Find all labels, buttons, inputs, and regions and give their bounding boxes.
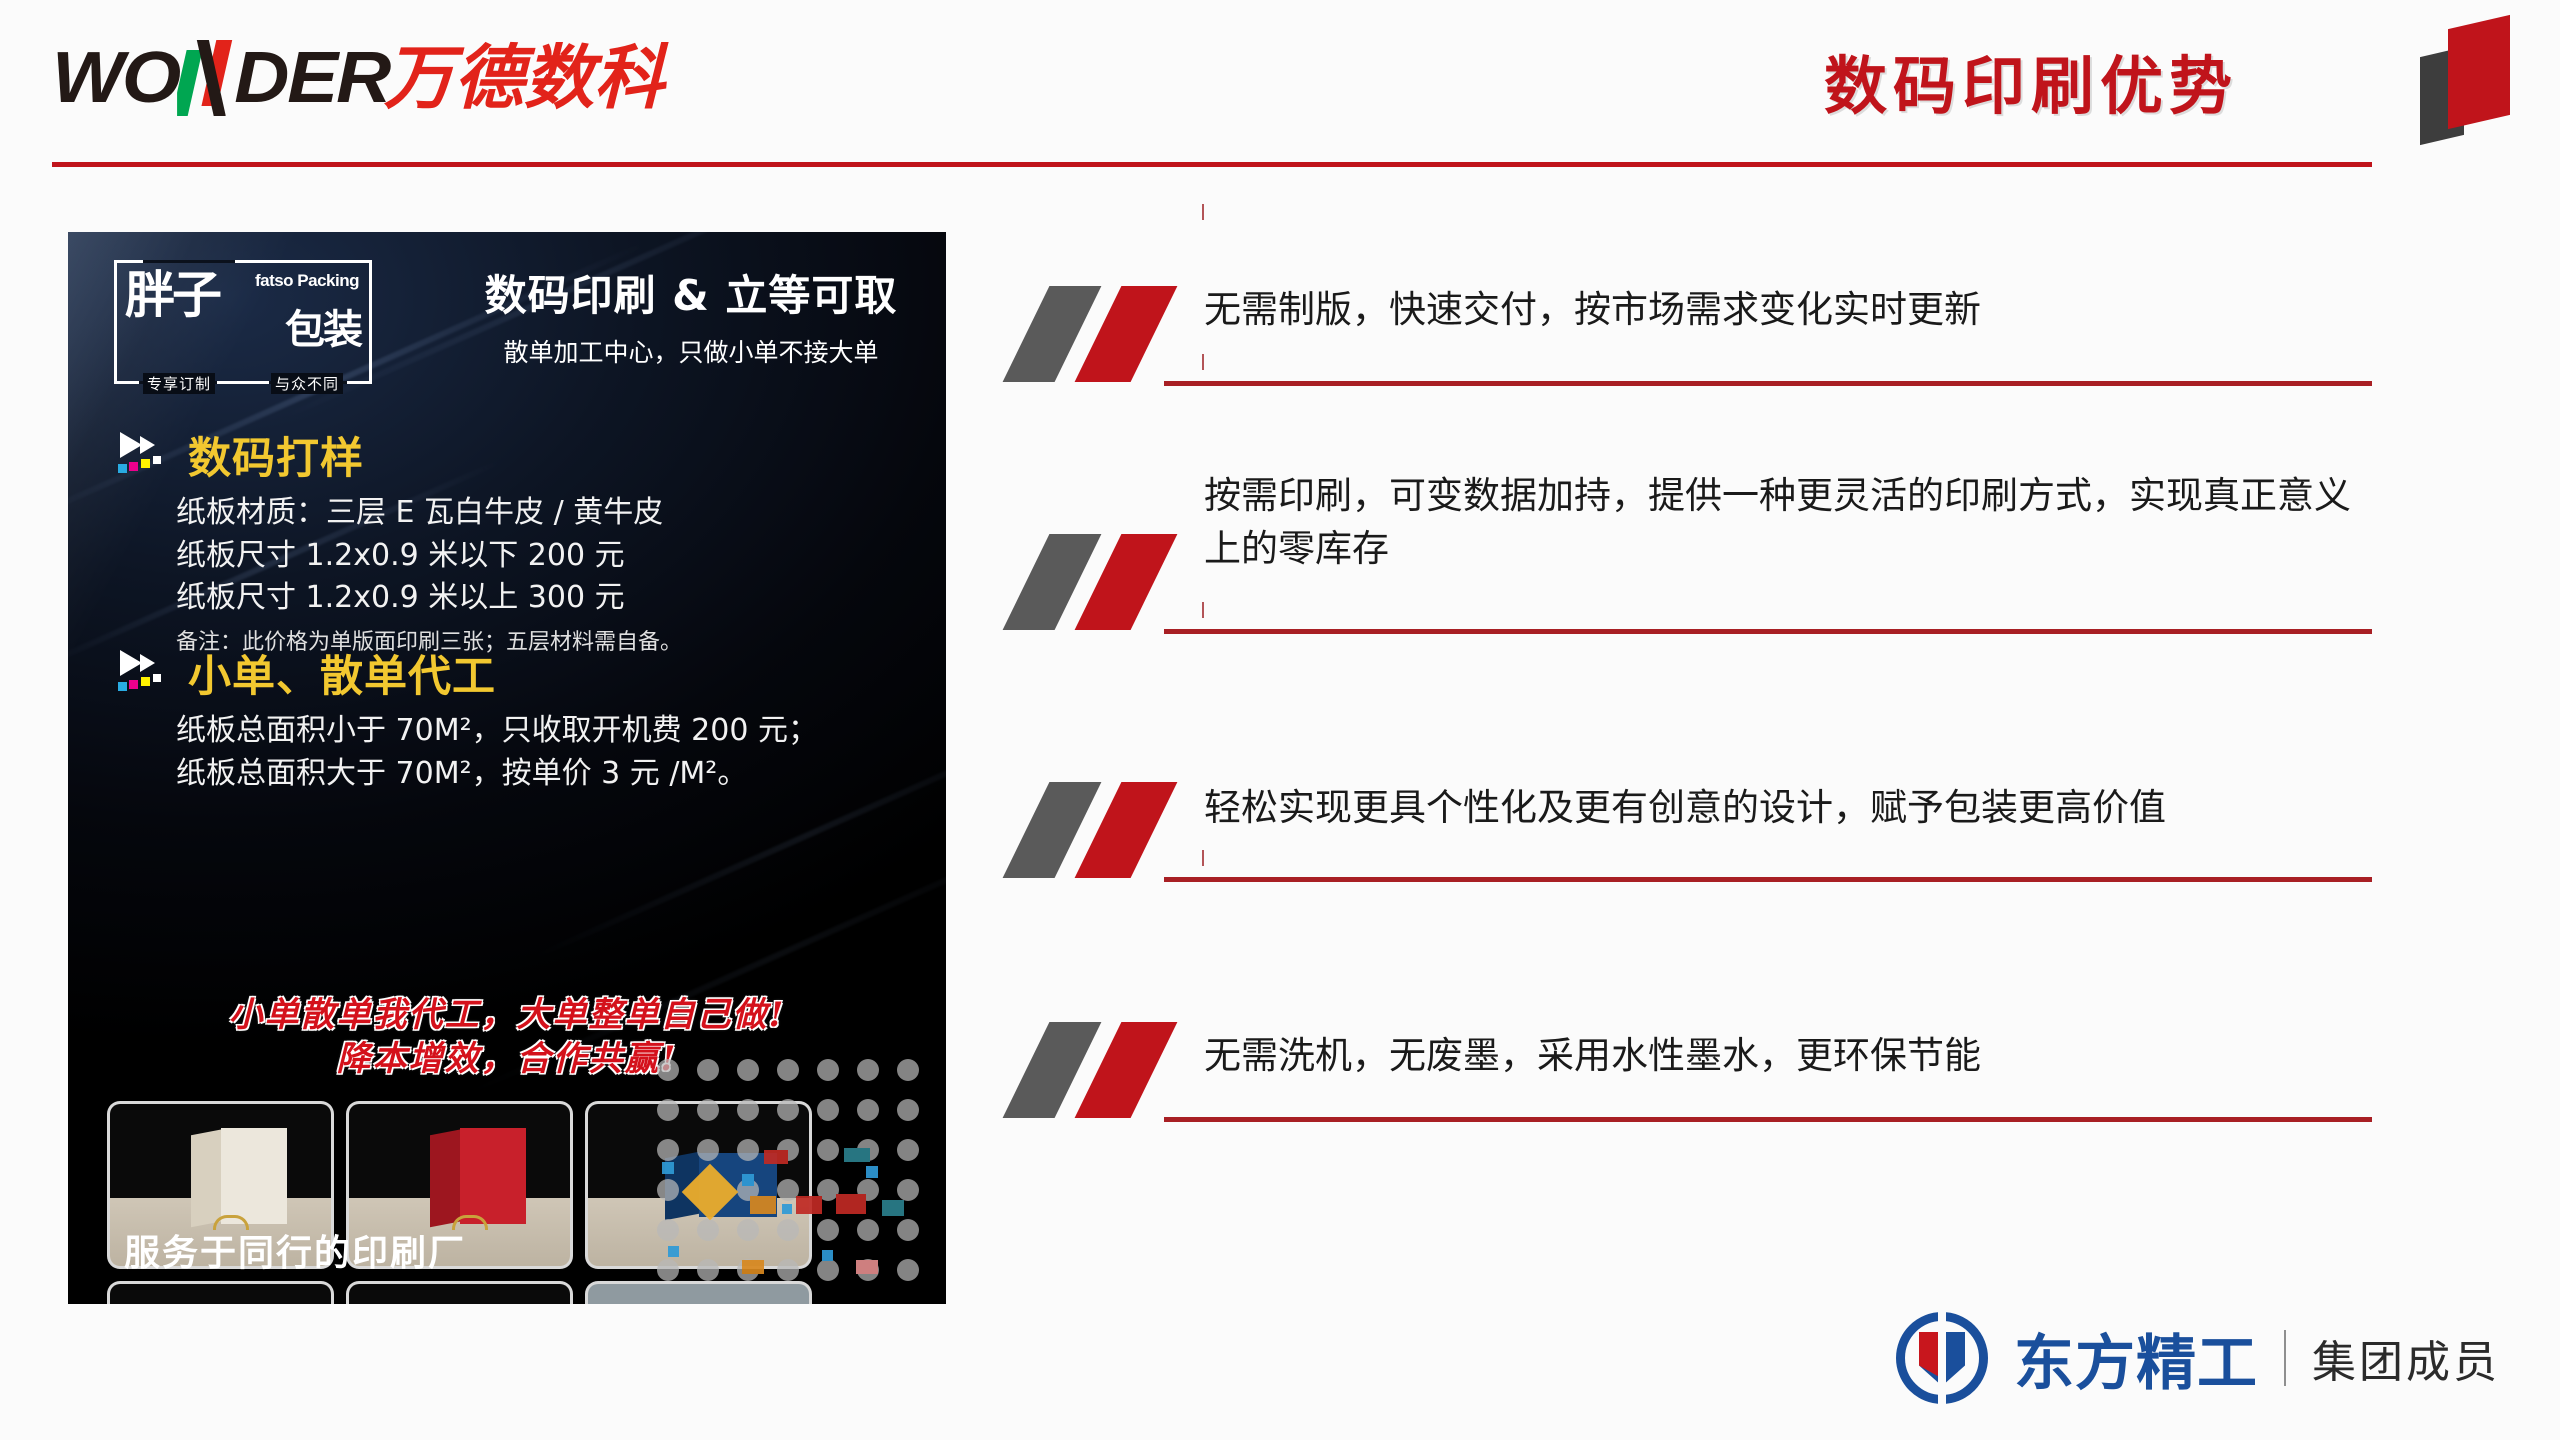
tick-mark <box>1202 602 1204 618</box>
section-line: 纸板材质：三层 E 瓦白牛皮 / 黄牛皮 <box>176 492 682 535</box>
dot-pattern-decoration <box>646 1054 946 1304</box>
advantage-item-1[interactable]: 无需制版，快速交付，按市场需求变化实时更新 <box>1012 232 2372 382</box>
poster-subheadline: 散单加工中心，只做小单不接大单 <box>466 333 916 369</box>
chevron-marker-icon <box>1012 286 1182 382</box>
section-title: 小单、散单代工 <box>188 642 496 704</box>
advantage-underline <box>1164 1117 2372 1122</box>
advantage-item-2[interactable]: 按需印刷，可变数据加持，提供一种更灵活的印刷方式，实现真正意义上的零库存 <box>1012 382 2372 630</box>
brand-chinese-name: 万德数科 <box>384 43 664 113</box>
product-photo <box>349 1284 570 1304</box>
fatso-logo-pack: 包装 <box>285 297 361 355</box>
chevron-marker-icon <box>1012 782 1182 878</box>
poster-section-digital-proofing: 数码打样 纸板材质：三层 E 瓦白牛皮 / 黄牛皮 纸板尺寸 1.2x0.9 米… <box>114 424 682 656</box>
advantages-list: 无需制版，快速交付，按市场需求变化实时更新 按需印刷，可变数据加持，提供一种更灵… <box>1012 232 2372 1118</box>
section-title-row: 小单、散单代工 <box>114 642 818 704</box>
fatso-logo-cn: 胖子 <box>125 269 219 322</box>
footer-brand: 东方精工 集团成员 <box>1896 1312 2500 1404</box>
tick-mark <box>1202 204 1204 220</box>
chevron-marker-icon <box>1012 534 1182 630</box>
header-divider <box>52 162 2372 167</box>
footer-separator <box>2284 1330 2286 1386</box>
section-body: 纸板材质：三层 E 瓦白牛皮 / 黄牛皮 纸板尺寸 1.2x0.9 米以下 20… <box>176 492 682 656</box>
poster-headline: 数码印刷 & 立等可取 <box>466 262 916 323</box>
poster-image: 胖子 fatso Packing 包装 专享订制 与众不同 数码印刷 & 立等可… <box>68 232 946 1304</box>
chevron-marker-icon <box>1012 1022 1182 1118</box>
fatso-logo-sub-right: 与众不同 <box>271 373 343 394</box>
slogan-line-1: 小单散单我代工，大单整单自己做! <box>68 994 946 1038</box>
poster-bottom-text: 服务于同行的印刷厂 <box>124 1224 466 1276</box>
tick-mark <box>1202 850 1204 866</box>
section-line: 纸板尺寸 1.2x0.9 米以上 300 元 <box>176 577 682 620</box>
slide-header: WO DER 万德数科 数码印刷优势 <box>0 0 2560 172</box>
section-line: 纸板尺寸 1.2x0.9 米以下 200 元 <box>176 535 682 578</box>
product-photo <box>110 1284 331 1304</box>
section-title: 数码打样 <box>188 424 364 486</box>
corner-decoration-icon <box>2400 10 2520 142</box>
poster-section-small-order-oem: 小单、散单代工 纸板总面积小于 70M²，只收取开机费 200 元； 纸板总面积… <box>114 642 818 795</box>
poster-headline-block: 数码印刷 & 立等可取 散单加工中心，只做小单不接大单 <box>466 262 916 369</box>
slide-root: WO DER 万德数科 数码印刷优势 胖子 fatso Packing 包装 专… <box>0 0 2560 1440</box>
wonder-text-pre: WO <box>52 42 179 114</box>
footer-member-label: 集团成员 <box>2312 1326 2500 1390</box>
arrow-bullet-icon <box>114 646 176 700</box>
footer-company-name: 东方精工 <box>2014 1315 2258 1402</box>
advantage-text: 无需制版，快速交付，按市场需求变化实时更新 <box>1204 232 2372 349</box>
fatso-logo-sub-left: 专享订制 <box>143 373 215 394</box>
section-line: 纸板总面积小于 70M²，只收取开机费 200 元； <box>176 710 818 753</box>
advantage-item-4[interactable]: 无需洗机，无废墨，采用水性墨水，更环保节能 <box>1012 878 2372 1118</box>
wonder-wordmark: WO DER <box>52 40 389 116</box>
advantage-text: 无需洗机，无废墨，采用水性墨水，更环保节能 <box>1204 878 2372 1095</box>
advantage-text: 轻松实现更具个性化及更有创意的设计，赋予包装更高价值 <box>1204 630 2372 847</box>
fatso-logo-en: fatso Packing <box>255 271 359 291</box>
section-title-row: 数码打样 <box>114 424 682 486</box>
arrow-bullet-icon <box>114 428 176 482</box>
tick-mark <box>1202 354 1204 370</box>
page-title: 数码印刷优势 <box>1824 36 2238 127</box>
advantage-text: 按需印刷，可变数据加持，提供一种更灵活的印刷方式，实现真正意义上的零库存 <box>1204 382 2372 587</box>
dongfang-jinggong-logo-icon <box>1896 1312 1988 1404</box>
advantage-item-3[interactable]: 轻松实现更具个性化及更有创意的设计，赋予包装更高价值 <box>1012 630 2372 878</box>
wonder-logo: WO DER 万德数科 <box>52 38 664 118</box>
wonder-text-post: DER <box>234 42 389 114</box>
fatso-packing-logo: 胖子 fatso Packing 包装 专享订制 与众不同 <box>114 260 372 384</box>
section-line: 纸板总面积大于 70M²，按单价 3 元 /M²。 <box>176 753 818 796</box>
section-body: 纸板总面积小于 70M²，只收取开机费 200 元； 纸板总面积大于 70M²，… <box>176 710 818 795</box>
wonder-n-icon <box>177 40 236 116</box>
